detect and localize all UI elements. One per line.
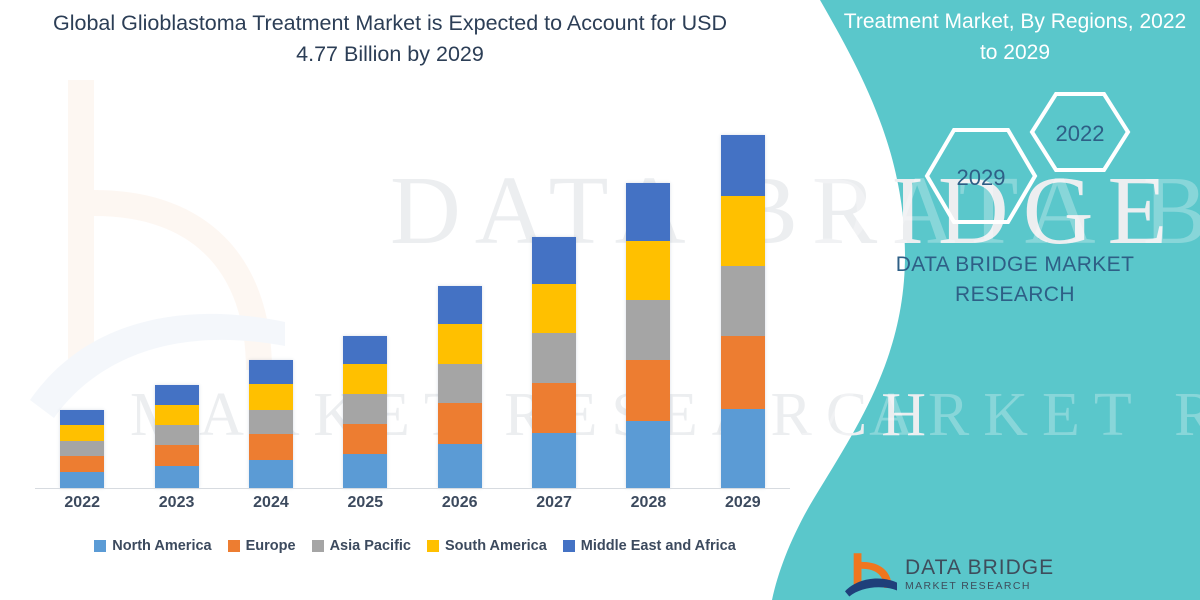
bar-slot [129, 95, 223, 488]
legend-swatch-icon [228, 540, 240, 552]
chart-plot-area: 20222023202420252026202720282029 [35, 95, 795, 489]
x-axis-label: 2027 [507, 494, 601, 512]
bar-slot [507, 95, 601, 488]
bar-segment [249, 360, 293, 384]
bar-segment [626, 300, 670, 360]
x-axis-label: 2025 [318, 494, 412, 512]
legend-label: Middle East and Africa [581, 538, 736, 554]
bar-segment [155, 405, 199, 426]
chart-title: Global Glioblastoma Treatment Market is … [30, 8, 750, 70]
legend-label: North America [112, 538, 211, 554]
bar-segment [721, 409, 765, 488]
stacked-bar[interactable] [249, 360, 293, 488]
bar-slot [601, 95, 695, 488]
infographic-canvas: DATA BRIDGE MARKET RESEARCH DATA BRIDGE … [0, 0, 1200, 600]
bar-segment [532, 383, 576, 433]
stacked-bar[interactable] [532, 237, 576, 488]
bar-segment [343, 394, 387, 424]
bar-slot [35, 95, 129, 488]
bar-segment [249, 460, 293, 488]
stacked-bar[interactable] [155, 385, 199, 488]
bar-segment [60, 472, 104, 488]
chart-legend: North AmericaEuropeAsia PacificSouth Ame… [35, 538, 795, 554]
logo-subtitle: MARKET RESEARCH [905, 580, 1054, 592]
legend-item[interactable]: Europe [228, 538, 296, 554]
bar-segment [60, 410, 104, 426]
legend-item[interactable]: North America [94, 538, 211, 554]
stacked-bar[interactable] [721, 135, 765, 488]
bar-segment [60, 441, 104, 456]
bar-segment [249, 384, 293, 410]
bar-segment [249, 434, 293, 460]
legend-label: Asia Pacific [330, 538, 411, 554]
legend-item[interactable]: Asia Pacific [312, 538, 411, 554]
bar-segment [626, 360, 670, 421]
bar-segment [249, 410, 293, 435]
data-bridge-logo: DATA BRIDGE MARKET RESEARCH [845, 548, 1075, 600]
bar-segment [626, 183, 670, 241]
x-axis-label: 2026 [413, 494, 507, 512]
legend-swatch-icon [563, 540, 575, 552]
hexagon-2022-label: 2022 [1056, 121, 1105, 146]
bar-segment [155, 385, 199, 405]
bar-segment [721, 266, 765, 337]
bar-segment [721, 196, 765, 266]
bar-segment [532, 284, 576, 333]
x-axis-label: 2029 [696, 494, 790, 512]
legend-swatch-icon [427, 540, 439, 552]
x-axis-label: 2028 [601, 494, 695, 512]
x-axis-label: 2022 [35, 494, 129, 512]
right-info-panel: Treatment Market, By Regions, 2022 to 20… [830, 0, 1200, 600]
bar-segment [343, 336, 387, 364]
bar-segment [343, 364, 387, 394]
bar-segment [438, 444, 482, 488]
bar-segment [532, 333, 576, 382]
x-axis-labels: 20222023202420252026202720282029 [35, 494, 790, 512]
legend-swatch-icon [94, 540, 106, 552]
bar-segment [60, 456, 104, 472]
chart-panel: Global Glioblastoma Treatment Market is … [0, 0, 830, 600]
bar-segment [155, 466, 199, 488]
bar-segment [438, 403, 482, 443]
stacked-bar[interactable] [60, 410, 104, 488]
x-axis-label: 2023 [129, 494, 223, 512]
bar-group [35, 95, 790, 488]
logo-name: DATA BRIDGE [905, 556, 1054, 580]
bar-slot [224, 95, 318, 488]
bar-segment [155, 425, 199, 445]
bar-segment [155, 445, 199, 466]
bar-segment [343, 454, 387, 488]
bar-segment [532, 433, 576, 488]
brand-name: DATA BRIDGE MARKET RESEARCH [840, 250, 1190, 310]
stacked-bar[interactable] [438, 286, 482, 488]
logo-wordmark: DATA BRIDGE MARKET RESEARCH [905, 556, 1054, 592]
bar-segment [60, 425, 104, 441]
bar-slot [696, 95, 790, 488]
bar-slot [318, 95, 412, 488]
bar-slot [413, 95, 507, 488]
bar-segment [438, 324, 482, 364]
hexagon-2029-label: 2029 [957, 165, 1006, 190]
bar-segment [438, 286, 482, 324]
legend-item[interactable]: South America [427, 538, 547, 554]
legend-label: Europe [246, 538, 296, 554]
bar-segment [626, 421, 670, 488]
bar-segment [532, 237, 576, 284]
stacked-bar[interactable] [343, 336, 387, 488]
x-axis-label: 2024 [224, 494, 318, 512]
right-panel-title: Treatment Market, By Regions, 2022 to 20… [840, 6, 1190, 68]
legend-item[interactable]: Middle East and Africa [563, 538, 736, 554]
bar-segment [721, 336, 765, 409]
bar-segment [438, 364, 482, 404]
bar-segment [343, 424, 387, 454]
bar-segment [626, 241, 670, 300]
bridge-b-icon [845, 551, 897, 597]
legend-label: South America [445, 538, 547, 554]
stacked-bar[interactable] [626, 183, 670, 488]
legend-swatch-icon [312, 540, 324, 552]
year-hexagons: 2022 2029 [908, 88, 1158, 233]
bar-segment [721, 135, 765, 195]
x-axis-line [35, 488, 790, 489]
